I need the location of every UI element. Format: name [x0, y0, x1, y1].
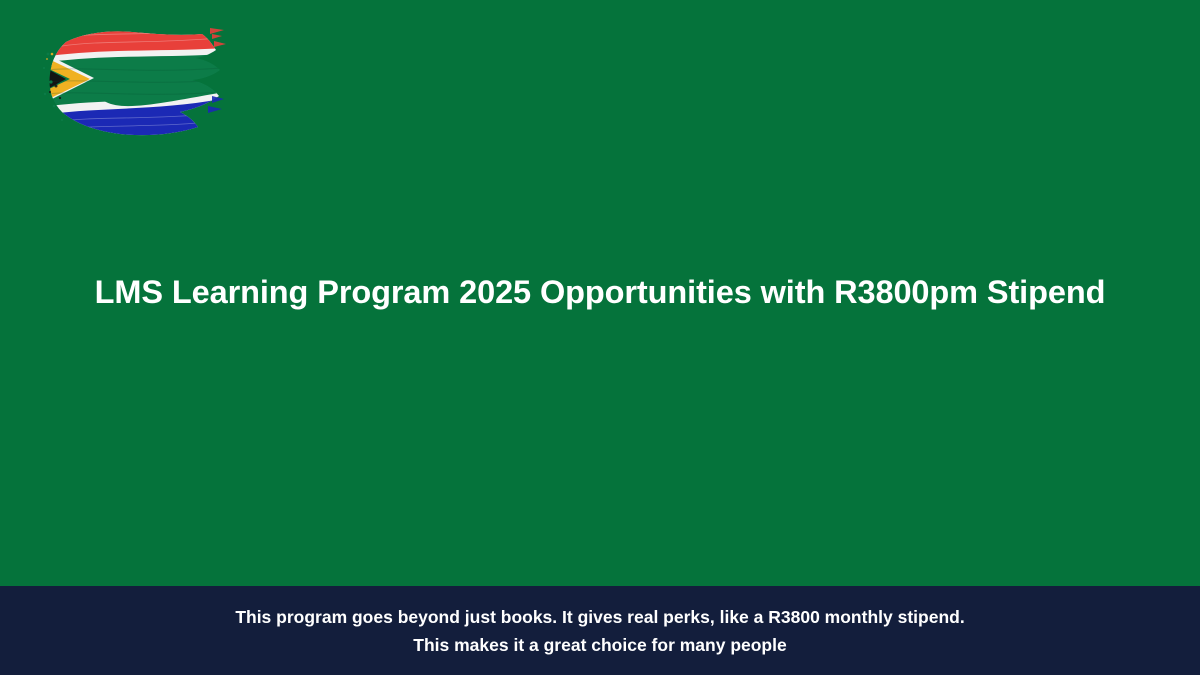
poster-canvas: LMS Learning Program 2025 Opportunities …: [0, 0, 1200, 675]
caption-line-2: This makes it a great choice for many pe…: [413, 631, 786, 659]
caption-bar: This program goes beyond just books. It …: [0, 586, 1200, 675]
page-title: LMS Learning Program 2025 Opportunities …: [70, 272, 1130, 312]
caption-line-1: This program goes beyond just books. It …: [235, 603, 964, 631]
hero-inner: LMS Learning Program 2025 Opportunities …: [70, 272, 1130, 312]
south-africa-flag-brushstroke-icon: [36, 24, 226, 140]
hero-section: LMS Learning Program 2025 Opportunities …: [0, 140, 1200, 586]
